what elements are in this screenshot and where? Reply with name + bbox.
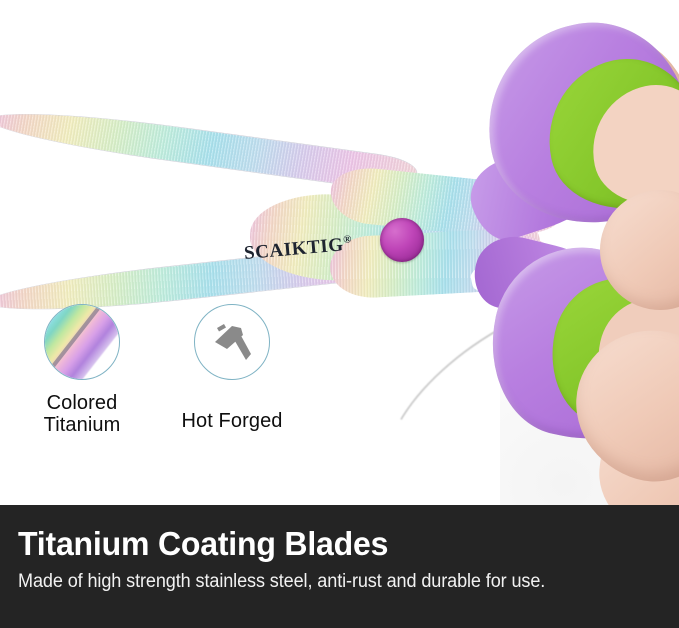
titanium-blade-icon <box>44 304 120 380</box>
feature-label-hot-forged: Hot Forged <box>181 410 282 432</box>
hammer-icon <box>194 304 270 380</box>
banner-headline: Titanium Coating Blades <box>18 527 642 562</box>
banner-subtitle: Made of high strength stainless steel, a… <box>18 571 629 594</box>
bottom-banner: Titanium Coating Blades Made of high str… <box>0 505 679 628</box>
registered-trademark-icon: ® <box>343 233 353 246</box>
pivot-screw <box>380 218 424 262</box>
feature-badges: Colored Titanium Hot Forged <box>30 304 284 437</box>
product-photo: SCAIKTIG® Colored Titanium <box>0 0 679 505</box>
titanium-rainbow-band <box>44 304 120 380</box>
feature-colored-titanium: Colored Titanium <box>30 304 134 437</box>
feature-hot-forged: Hot Forged <box>180 304 284 432</box>
feature-label-colored-titanium: Colored Titanium <box>44 392 121 437</box>
product-feature-image: SCAIKTIG® Colored Titanium <box>0 0 679 628</box>
hammer-glyph <box>208 318 256 366</box>
